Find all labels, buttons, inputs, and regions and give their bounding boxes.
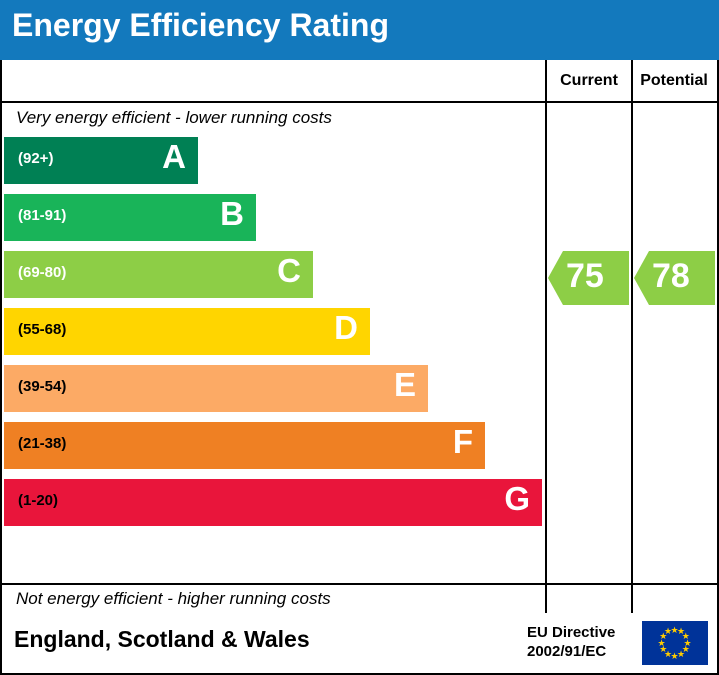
band-e: (39-54) E (4, 365, 428, 412)
potential-rating-value: 78 (652, 257, 690, 296)
note-not-efficient: Not energy efficient - higher running co… (16, 589, 331, 609)
band-a-range: (92+) (18, 150, 53, 167)
eu-star-icon: ★ (664, 627, 672, 636)
note-very-efficient: Very energy efficient - lower running co… (16, 108, 332, 128)
column-header-current: Current (547, 72, 631, 90)
potential-rating-arrow: 78 (634, 251, 715, 305)
band-c: (69-80) C (4, 251, 313, 298)
column-header-divider (2, 101, 717, 103)
band-b-range: (81-91) (18, 207, 66, 224)
current-rating-arrow: 75 (548, 251, 629, 305)
page-title: Energy Efficiency Rating (12, 7, 389, 44)
band-f-range: (21-38) (18, 435, 66, 452)
eu-flag-icon: ★★★★★★★★★★★★ (642, 621, 708, 665)
footer-region-label: England, Scotland & Wales (14, 626, 310, 653)
footer-directive-line1: EU Directive (527, 623, 615, 642)
bottom-note-divider (2, 583, 717, 585)
band-b-letter: B (220, 195, 244, 233)
band-f: (21-38) F (4, 422, 485, 469)
band-c-letter: C (277, 252, 301, 290)
column-header-potential: Potential (633, 72, 715, 90)
band-a: (92+) A (4, 137, 198, 184)
band-b: (81-91) B (4, 194, 256, 241)
band-e-letter: E (394, 366, 416, 404)
band-f-letter: F (453, 423, 473, 461)
chart-footer: England, Scotland & Wales EU Directive 2… (0, 613, 719, 675)
band-g-letter: G (504, 480, 530, 518)
band-d-letter: D (334, 309, 358, 347)
current-column-divider (545, 60, 547, 613)
band-c-range: (69-80) (18, 264, 66, 281)
band-a-letter: A (162, 138, 186, 176)
chart-body: Current Potential Very energy efficient … (0, 60, 719, 615)
footer-directive: EU Directive 2002/91/EC (527, 623, 615, 661)
footer-directive-line2: 2002/91/EC (527, 642, 615, 661)
chart-header: Energy Efficiency Rating (0, 0, 719, 60)
epc-energy-efficiency-chart: Energy Efficiency Rating Current Potenti… (0, 0, 719, 675)
band-d-range: (55-68) (18, 321, 66, 338)
band-g-range: (1-20) (18, 492, 58, 509)
current-arrow-point (548, 251, 563, 305)
band-g: (1-20) G (4, 479, 542, 526)
band-e-range: (39-54) (18, 378, 66, 395)
band-d: (55-68) D (4, 308, 370, 355)
potential-arrow-point (634, 251, 649, 305)
current-rating-value: 75 (566, 257, 604, 296)
potential-column-divider (631, 60, 633, 613)
